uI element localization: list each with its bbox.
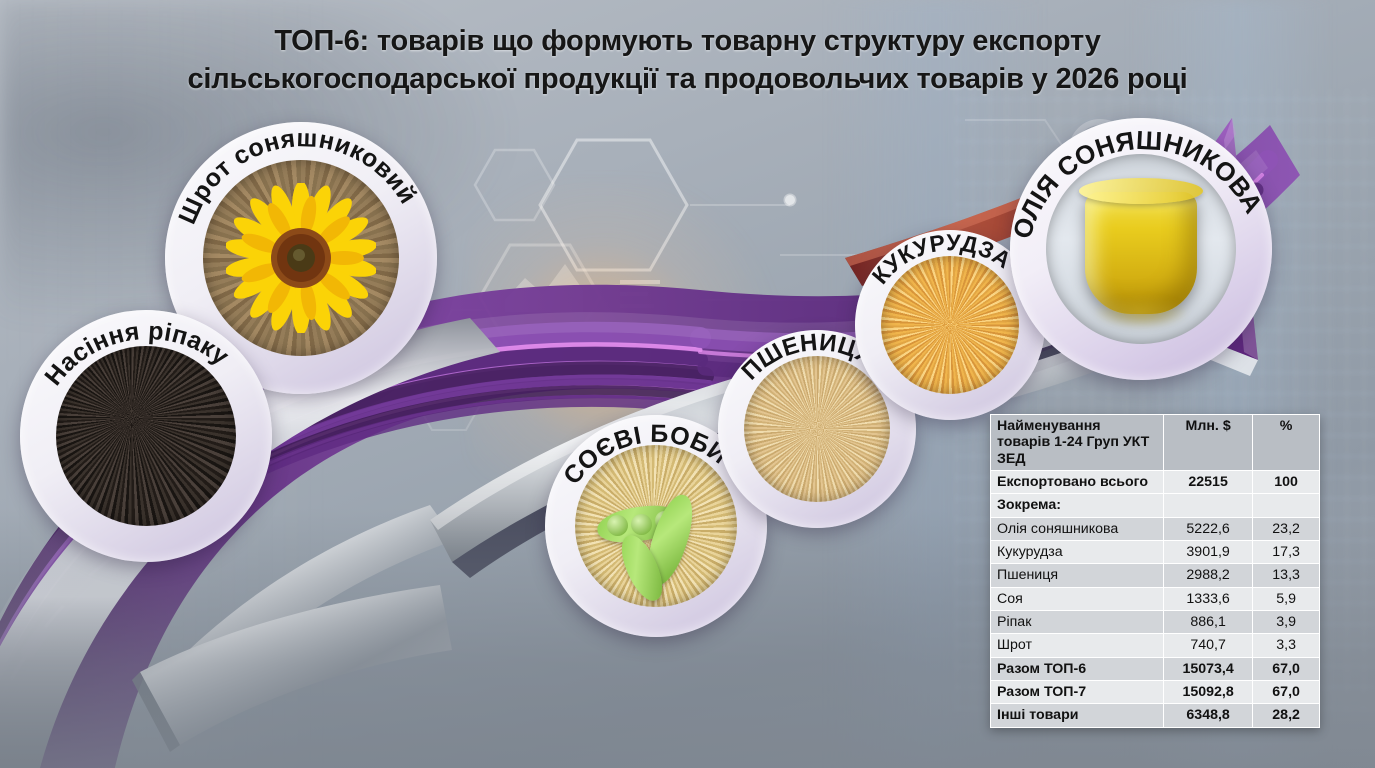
cell-name: Зокрема: [991,494,1164,517]
table-row: Кукурудза 3901,9 17,3 [991,540,1320,563]
cell-value: 2988,2 [1164,564,1253,587]
cell-value: 22515 [1164,470,1253,493]
table-row: Разом ТОП-7 15092,8 67,0 [991,680,1320,703]
cell-percent: 67,0 [1253,657,1320,680]
title-line-1: ТОП-6: товарів що формують товарну струк… [0,22,1375,60]
cell-percent: 5,9 [1253,587,1320,610]
table-row: Інші товари 6348,8 28,2 [991,704,1320,727]
table-row: Пшениця 2988,2 13,3 [991,564,1320,587]
cell-name: Пшениця [991,564,1164,587]
cell-value: 1333,6 [1164,587,1253,610]
cell-percent: 3,9 [1253,610,1320,633]
table-row: Ріпак 886,1 3,9 [991,610,1320,633]
title-line-2: сільськогосподарської продукції та продо… [0,60,1375,98]
bubble-ripak[interactable]: Насіння ріпаку [20,310,272,562]
rapeseed-icon [56,346,236,526]
bubble-oliia[interactable]: ОЛІЯ СОНЯШНИКОВА [1010,118,1272,380]
cell-value: 3901,9 [1164,540,1253,563]
cell-percent [1253,494,1320,517]
export-statistics-table: Найменування товарів 1-24 Груп УКТ ЗЕД М… [990,414,1320,728]
table-row: Олія соняшникова 5222,6 23,2 [991,517,1320,540]
table-row: Разом ТОП-6 15073,4 67,0 [991,657,1320,680]
header-name: Найменування товарів 1-24 Груп УКТ ЗЕД [991,415,1164,471]
cell-percent: 13,3 [1253,564,1320,587]
sunflower-oil-icon [1046,154,1236,344]
cell-value: 5222,6 [1164,517,1253,540]
table-body: Експортовано всього 22515 100 Зокрема: О… [991,470,1320,727]
cell-percent: 23,2 [1253,517,1320,540]
table-row: Соя 1333,6 5,9 [991,587,1320,610]
cell-name: Інші товари [991,704,1164,727]
cell-value: 15092,8 [1164,680,1253,703]
header-percent: % [1253,415,1320,471]
cell-name: Разом ТОП-7 [991,680,1164,703]
cell-name: Разом ТОП-6 [991,657,1164,680]
cell-value: 740,7 [1164,634,1253,657]
cell-name: Шрот [991,634,1164,657]
cell-percent: 3,3 [1253,634,1320,657]
sunflower-meal-icon [203,160,399,356]
cell-name: Ріпак [991,610,1164,633]
infographic-canvas: ТОП-6: товарів що формують товарну струк… [0,0,1375,768]
cell-value: 15073,4 [1164,657,1253,680]
cell-name: Олія соняшникова [991,517,1164,540]
table-header-row: Найменування товарів 1-24 Груп УКТ ЗЕД М… [991,415,1320,471]
cell-percent: 17,3 [1253,540,1320,563]
cell-name: Соя [991,587,1164,610]
table-row: Зокрема: [991,494,1320,517]
cell-percent: 28,2 [1253,704,1320,727]
header-value: Млн. $ [1164,415,1253,471]
cell-percent: 67,0 [1253,680,1320,703]
cell-percent: 100 [1253,470,1320,493]
cell-value [1164,494,1253,517]
table-row: Експортовано всього 22515 100 [991,470,1320,493]
soybean-icon [575,445,737,607]
page-title: ТОП-6: товарів що формують товарну струк… [0,22,1375,99]
soy-bean [631,514,652,535]
cell-value: 6348,8 [1164,704,1253,727]
cell-name: Кукурудза [991,540,1164,563]
cell-value: 886,1 [1164,610,1253,633]
cell-name: Експортовано всього [991,470,1164,493]
sunflower-glyph [226,183,376,333]
table-row: Шрот 740,7 3,3 [991,634,1320,657]
oil-glass-reflection [1093,295,1189,329]
corn-icon [881,256,1019,394]
soy-bean [607,515,628,536]
wheat-icon [744,356,890,502]
